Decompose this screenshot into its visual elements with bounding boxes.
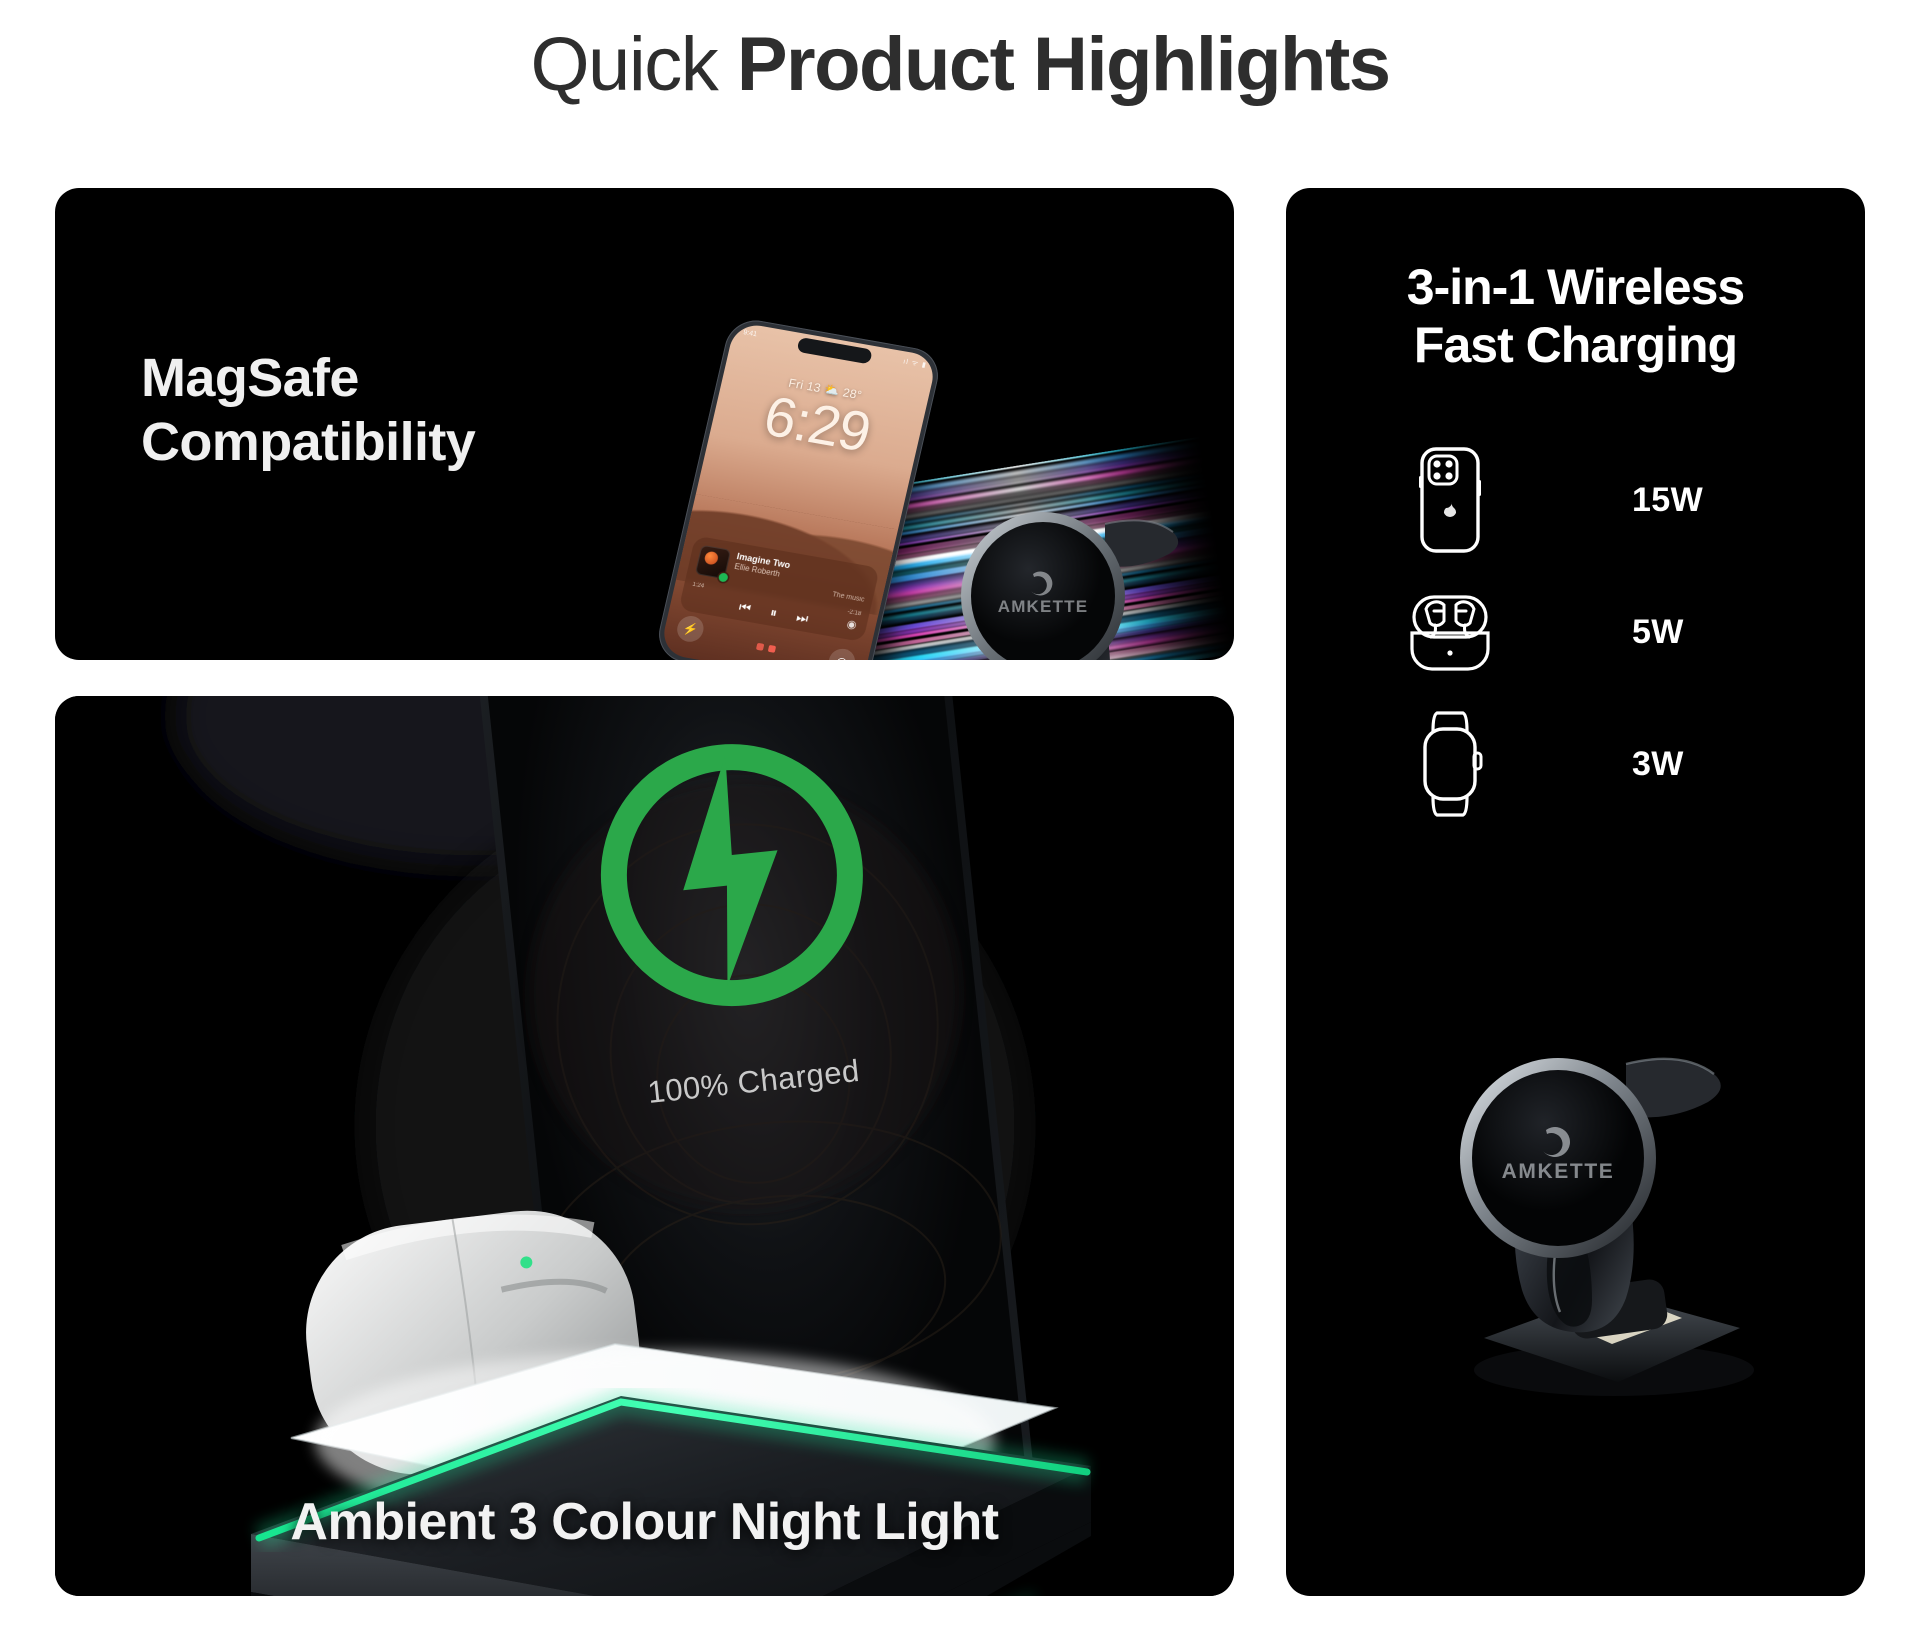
spotify-badge-icon [718,572,729,582]
camera-icon[interactable]: ◎ [826,647,857,660]
spec-watt-watch: 3W [1632,745,1684,784]
smartphone-icon [1404,446,1496,554]
spec-row-earbuds: 5W [1286,566,1865,698]
panel-three-in-one-charging: 3-in-1 Wireless Fast Charging [1286,188,1865,1596]
page-title: Quick Product Highlights [0,22,1920,108]
spec-watt-earbuds: 5W [1632,613,1684,652]
product-highlights-graphic: Quick Product Highlights MagSafe Compati… [0,0,1920,1627]
spec-list: 15W 5W [1286,434,1865,830]
charging-stand-graphic: AMKETTE [935,484,1205,660]
puck-brand-label: AMKETTE [998,597,1089,616]
three-in-one-heading: 3-in-1 Wireless Fast Charging [1286,258,1865,374]
smartwatch-icon [1404,709,1496,819]
page-dots [755,643,775,653]
music-meta: Imagine Two Ellie Roberth [733,551,831,588]
three-heading-line1: 3-in-1 Wireless [1286,258,1865,316]
dot-red [755,643,763,651]
music-app-name: The music [832,591,865,603]
product-brand-label: AMKETTE [1502,1160,1615,1183]
status-bar-time: 9:41 [743,329,758,338]
magsafe-heading: MagSafe Compatibility [141,346,475,474]
status-bar-indicators: ıl ᯤ ▮ [902,357,927,370]
panel-magsafe-compatibility: MagSafe Compatibility 9:41 ıl ᯤ ▮ Fri 13… [55,188,1234,660]
earbuds-case-icon [1404,589,1496,675]
page-title-bold: Product Highlights [737,22,1390,107]
night-light-scene-graphic: 100% Charged [55,696,1234,1596]
album-art [695,545,731,579]
night-light-caption: Ambient 3 Colour Night Light [55,1492,1234,1552]
page-title-light: Quick [530,22,736,107]
time-remaining: -2:18 [847,609,862,617]
music-widget-top: Imagine Two Ellie Roberth The music [695,545,870,604]
magsafe-heading-line1: MagSafe [141,346,475,410]
play-pause-icon[interactable]: ⏸ [769,606,778,620]
charging-stand-product-image: AMKETTE [1428,1008,1758,1408]
dot-orange [767,645,775,653]
time-elapsed: 1:24 [692,582,705,590]
spec-watt-phone: 15W [1632,481,1703,520]
previous-track-icon[interactable]: ⏮ [738,600,752,615]
phone-notch [796,337,872,364]
spec-row-watch: 3W [1286,698,1865,830]
next-track-icon[interactable]: ⏭ [795,610,809,625]
three-heading-line2: Fast Charging [1286,316,1865,374]
magsafe-heading-line2: Compatibility [141,410,475,474]
panel-ambient-night-light: 100% Charged [55,696,1234,1596]
flashlight-icon[interactable]: ⚡ [675,614,706,644]
spec-row-phone: 15W [1286,434,1865,566]
